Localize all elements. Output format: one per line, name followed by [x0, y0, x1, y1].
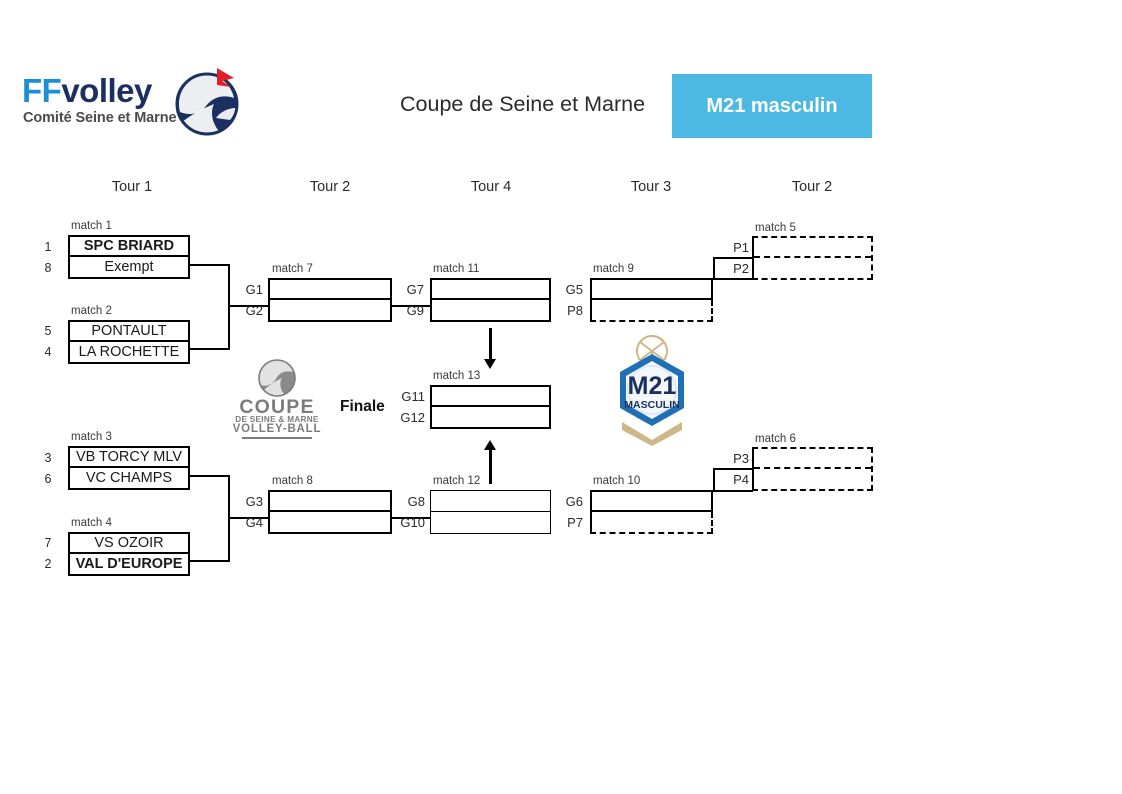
- match8-slot-top-label: G3: [241, 494, 263, 509]
- connector-m1-out: [190, 264, 230, 266]
- match9-box-top[interactable]: [590, 278, 713, 300]
- match9-team-bottom[interactable]: [592, 300, 711, 320]
- match8-team-top[interactable]: [270, 492, 390, 512]
- match9-label: match 9: [593, 263, 634, 275]
- match7-team-bottom[interactable]: [270, 300, 390, 320]
- match7-team-top[interactable]: [270, 280, 390, 300]
- match3-team-top[interactable]: VB TORCY MLV: [70, 448, 188, 468]
- match6-team-bottom[interactable]: [754, 469, 871, 489]
- match10-box-bottom[interactable]: [590, 512, 713, 534]
- match11-team-top[interactable]: [432, 280, 549, 300]
- match13-team-top[interactable]: [432, 387, 549, 407]
- match2-team-bottom[interactable]: LA ROCHETTE: [70, 342, 188, 362]
- match9-team-top[interactable]: [592, 280, 711, 298]
- m21-masculin-logo: M21 MASCULIN: [608, 334, 696, 446]
- match2-seed-bottom: 4: [40, 345, 56, 359]
- match4-box[interactable]: VS OZOIR VAL D'EUROPE: [68, 532, 190, 576]
- coupe-logo-line3: VOLLEY-BALL: [228, 423, 326, 435]
- round-header-tour2-b: Tour 2: [752, 179, 872, 195]
- match4-seed-bottom: 2: [40, 557, 56, 571]
- connector-m9-top-out: [713, 278, 753, 280]
- match2-seed-top: 5: [40, 324, 56, 338]
- arrow-m12-to-m13: [484, 440, 496, 484]
- match7-slot-top-label: G1: [241, 282, 263, 297]
- match4-label: match 4: [71, 517, 112, 529]
- match4-team-top[interactable]: VS OZOIR: [70, 534, 188, 554]
- match12-slot-bottom-label: G10: [398, 515, 425, 530]
- match3-seed-top: 3: [40, 451, 56, 465]
- match3-label: match 3: [71, 431, 112, 443]
- match11-box[interactable]: [430, 278, 551, 322]
- match9-slot-bottom-label: P8: [561, 303, 583, 318]
- match1-label: match 1: [71, 220, 112, 232]
- m21-logo-subtitle: MASCULIN: [624, 399, 679, 411]
- bracket-canvas: FFvolley Comité Seine et Marne Coupe de …: [0, 0, 1122, 794]
- match11-label: match 11: [433, 263, 479, 275]
- round-header-tour4: Tour 4: [431, 179, 551, 195]
- connector-m10-vertical: [713, 468, 715, 492]
- match8-slot-bottom-label: G4: [241, 515, 263, 530]
- match7-label: match 7: [272, 263, 313, 275]
- match4-seed-top: 7: [40, 536, 56, 550]
- match8-team-bottom[interactable]: [270, 512, 390, 532]
- round-header-tour1: Tour 1: [72, 179, 192, 195]
- ffvolley-subtitle: Comité Seine et Marne: [23, 110, 176, 126]
- match10-label: match 10: [593, 475, 640, 487]
- match13-label: match 13: [433, 370, 480, 382]
- match10-box-top[interactable]: [590, 490, 713, 512]
- arrow-m11-to-m13: [484, 328, 496, 370]
- match2-box[interactable]: PONTAULT LA ROCHETTE: [68, 320, 190, 364]
- match13-box[interactable]: [430, 385, 551, 429]
- coupe-logo-divider: [242, 437, 312, 439]
- connector-m10-top-out: [713, 490, 753, 492]
- match12-team-bottom[interactable]: [431, 512, 550, 533]
- page-title: Coupe de Seine et Marne: [400, 92, 645, 117]
- match6-box[interactable]: [752, 447, 873, 491]
- category-badge: M21 masculin: [672, 74, 872, 138]
- match12-label: match 12: [433, 475, 480, 487]
- match7-slot-bottom-label: G2: [241, 303, 263, 318]
- finale-caption: Finale: [340, 398, 385, 416]
- connector-m3-out: [190, 475, 230, 477]
- match1-team-bottom[interactable]: Exempt: [70, 257, 188, 277]
- match6-slot-bottom-label: P4: [728, 472, 749, 487]
- connector-into-m5: [713, 257, 753, 259]
- match3-box[interactable]: VB TORCY MLV VC CHAMPS: [68, 446, 190, 490]
- match13-slot-top-label: G11: [400, 389, 425, 404]
- match5-label: match 5: [755, 222, 796, 234]
- match13-team-bottom[interactable]: [432, 407, 549, 427]
- match1-team-top[interactable]: SPC BRIARD: [70, 237, 188, 257]
- match5-team-top[interactable]: [754, 238, 871, 258]
- match12-team-top[interactable]: [431, 491, 550, 512]
- match12-slot-top-label: G8: [398, 494, 425, 509]
- match3-team-bottom[interactable]: VC CHAMPS: [70, 468, 188, 488]
- match6-team-top[interactable]: [754, 449, 871, 469]
- match2-team-top[interactable]: PONTAULT: [70, 322, 188, 342]
- volleyball-rooster-icon: [170, 64, 244, 138]
- ffvolley-volley-text: volley: [61, 72, 152, 109]
- match8-label: match 8: [272, 475, 313, 487]
- match7-box[interactable]: [268, 278, 392, 322]
- match11-slot-bottom-label: G9: [402, 303, 424, 318]
- match2-label: match 2: [71, 305, 112, 317]
- volleyball-icon: [257, 358, 297, 398]
- match1-box[interactable]: SPC BRIARD Exempt: [68, 235, 190, 279]
- match6-slot-top-label: P3: [728, 451, 749, 466]
- match10-slot-top-label: G6: [557, 494, 583, 509]
- match9-box-bottom[interactable]: [590, 300, 713, 322]
- ffvolley-logo: FFvolley Comité Seine et Marne: [22, 66, 237, 138]
- ffvolley-wordmark: FFvolley: [22, 72, 152, 110]
- match6-label: match 6: [755, 433, 796, 445]
- match8-box[interactable]: [268, 490, 392, 534]
- match11-slot-top-label: G7: [402, 282, 424, 297]
- match3-seed-bottom: 6: [40, 472, 56, 486]
- match10-team-top[interactable]: [592, 492, 711, 510]
- match9-slot-top-label: G5: [561, 282, 583, 297]
- match10-team-bottom[interactable]: [592, 512, 711, 532]
- match13-slot-bottom-label: G12: [400, 410, 425, 425]
- round-header-tour2-a: Tour 2: [270, 179, 390, 195]
- match1-seed-top: 1: [40, 240, 56, 254]
- connector-m4-out: [190, 560, 230, 562]
- match5-team-bottom[interactable]: [754, 258, 871, 278]
- match10-slot-bottom-label: P7: [557, 515, 583, 530]
- match4-team-bottom[interactable]: VAL D'EUROPE: [70, 554, 188, 574]
- match5-box[interactable]: [752, 236, 873, 280]
- connector-m2-out: [190, 348, 230, 350]
- match5-slot-bottom-label: P2: [728, 261, 749, 276]
- match5-slot-top-label: P1: [728, 240, 749, 255]
- m21-logo-title: M21: [628, 372, 677, 400]
- ffvolley-ff-text: FF: [22, 72, 61, 109]
- round-header-tour3: Tour 3: [591, 179, 711, 195]
- coupe-volleyball-logo: COUPE DE SEINE & MARNE VOLLEY-BALL: [228, 358, 326, 440]
- connector-into-m6: [713, 468, 753, 470]
- match12-box[interactable]: [430, 490, 551, 534]
- match1-seed-bottom: 8: [40, 261, 56, 275]
- connector-m9-vertical: [713, 257, 715, 280]
- match11-team-bottom[interactable]: [432, 300, 549, 320]
